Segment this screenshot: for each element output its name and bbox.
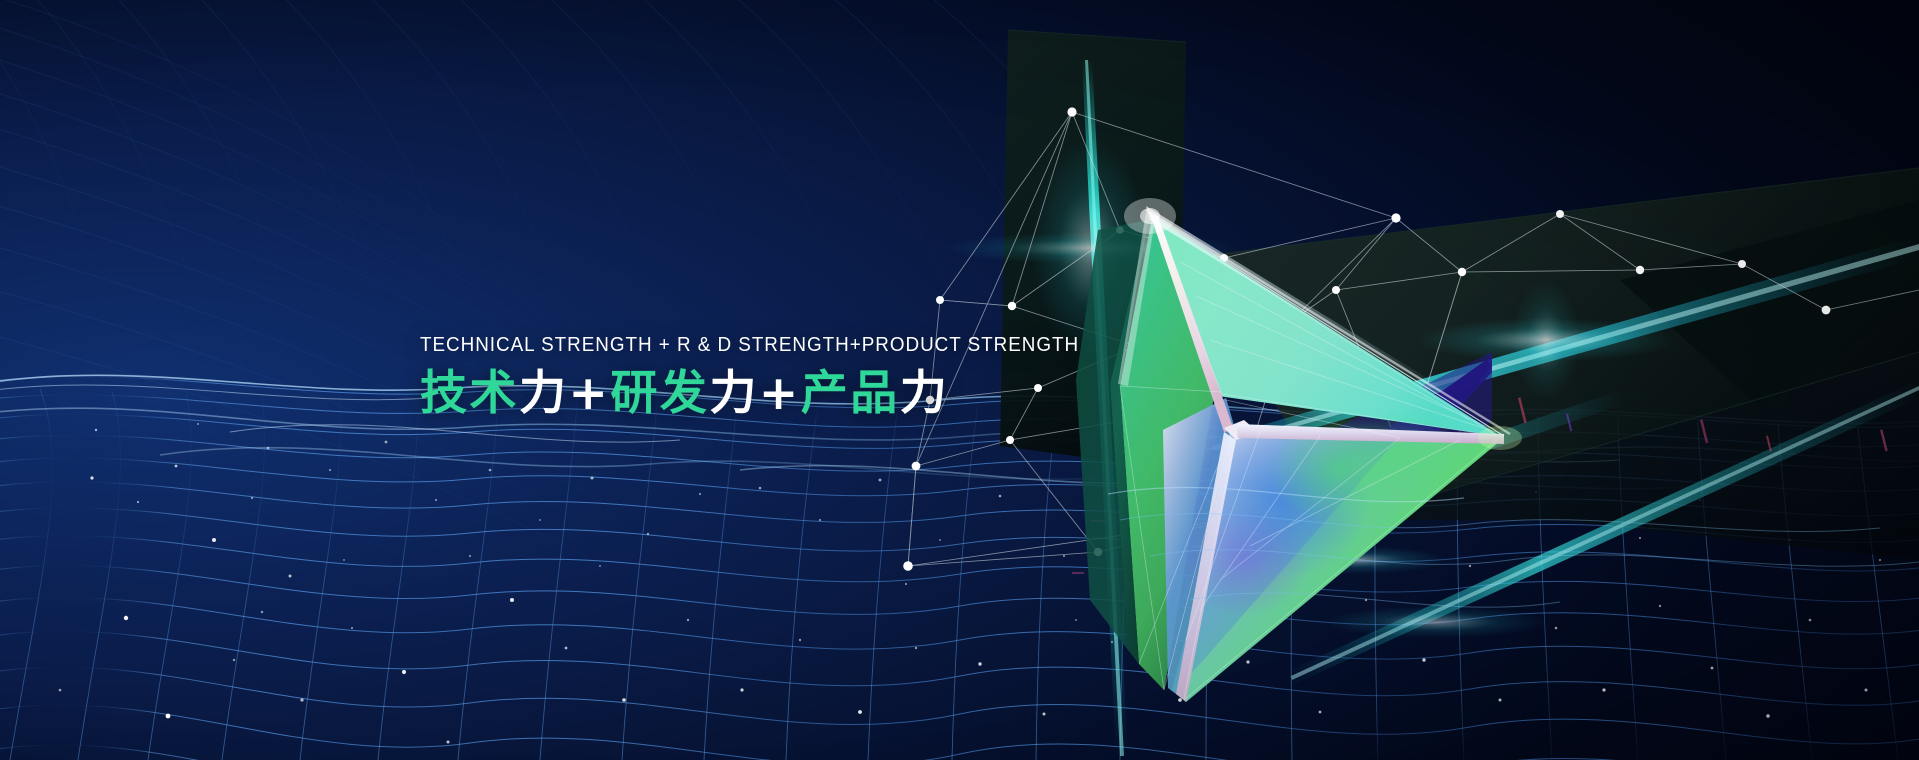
headline-block: TECHNICAL STRENGTH + R & D STRENGTH+PROD… xyxy=(420,332,1136,421)
headline-cn-seg-5: 力 xyxy=(709,366,759,421)
headline-cn-seg-3: + xyxy=(569,366,611,421)
headline-cn-seg-1: 技术 xyxy=(420,366,519,421)
headline-cn-seg-2: 力 xyxy=(519,366,569,421)
headline-cn-seg-4: 研发 xyxy=(610,366,709,421)
headline-cn-seg-8: 力 xyxy=(900,366,950,421)
headline-english: TECHNICAL STRENGTH + R & D STRENGTH+PROD… xyxy=(420,332,1079,358)
headline-cn-seg-7: 产品 xyxy=(801,366,900,421)
headline-cn-seg-6: + xyxy=(759,366,801,421)
hero-banner: TECHNICAL STRENGTH + R & D STRENGTH+PROD… xyxy=(0,0,1919,760)
headline-chinese: 技术力+研发力+产品力 xyxy=(420,366,1136,421)
